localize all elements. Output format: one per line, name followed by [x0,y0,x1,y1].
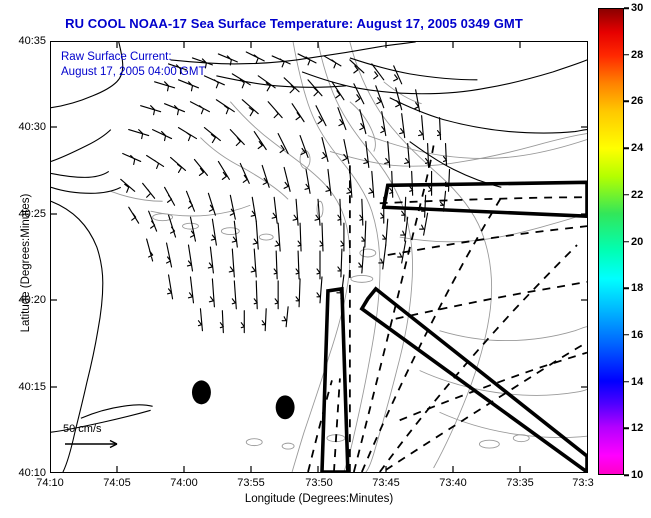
colorbar-tick-label: 14 [631,376,643,388]
colorbar-tick-label: 24 [631,142,643,154]
colorbar-tick-label: 18 [631,282,643,294]
ytick-label: 40:15 [18,381,46,393]
ytick-label: 40:30 [18,121,46,133]
colorbar-tick-label: 30 [631,2,643,14]
xtick-label: 73:40 [439,477,467,489]
xtick-label: 74:05 [103,477,131,489]
scale-legend-label: 50 cm/s [63,423,155,435]
station-markers [192,380,295,419]
colorbar-tick-label: 26 [631,95,643,107]
xtick-label: 73:3 [572,477,593,489]
xtick-label: 73:35 [506,477,534,489]
colorbar-tick-label: 20 [631,236,643,248]
annotation-line-2: August 17, 2005 04:00 GMT [61,65,205,80]
xtick-label: 73:55 [237,477,265,489]
colorbar-tick-label: 16 [631,329,643,341]
annotation-line-1: Raw Surface Current: [61,50,205,65]
colorbar-tick-label: 28 [631,49,643,61]
ytick-label: 40:10 [18,467,46,479]
temperature-colorbar[interactable] [598,8,624,475]
xtick-label: 73:45 [372,477,400,489]
sst-contour-layer [111,42,587,472]
x-axis-title: Longitude (Degrees:Minutes) [50,493,588,505]
map-plot-area[interactable]: Raw Surface Current: August 17, 2005 04:… [50,41,588,473]
ytick-label: 40:35 [18,35,46,47]
station-marker-west [192,380,211,404]
coastline-layer [51,42,587,472]
y-axis-title: Latitude (Degrees:Minutes) [20,153,32,373]
scale-legend: 50 cm/s [63,423,155,450]
right-arrow-icon [63,438,125,450]
annotation-text: Raw Surface Current: August 17, 2005 04:… [61,50,205,80]
colorbar-tick-label: 10 [631,469,643,481]
station-marker-east [276,395,295,419]
figure-canvas: RU COOL NOAA-17 Sea Surface Temperature:… [0,0,651,518]
page-title: RU COOL NOAA-17 Sea Surface Temperature:… [0,16,588,31]
map-vector-graphics [51,42,587,472]
colorbar-tick-label: 12 [631,422,643,434]
xtick-label: 74:00 [170,477,198,489]
xtick-label: 73:50 [305,477,333,489]
colorbar-tick-label: 22 [631,189,643,201]
